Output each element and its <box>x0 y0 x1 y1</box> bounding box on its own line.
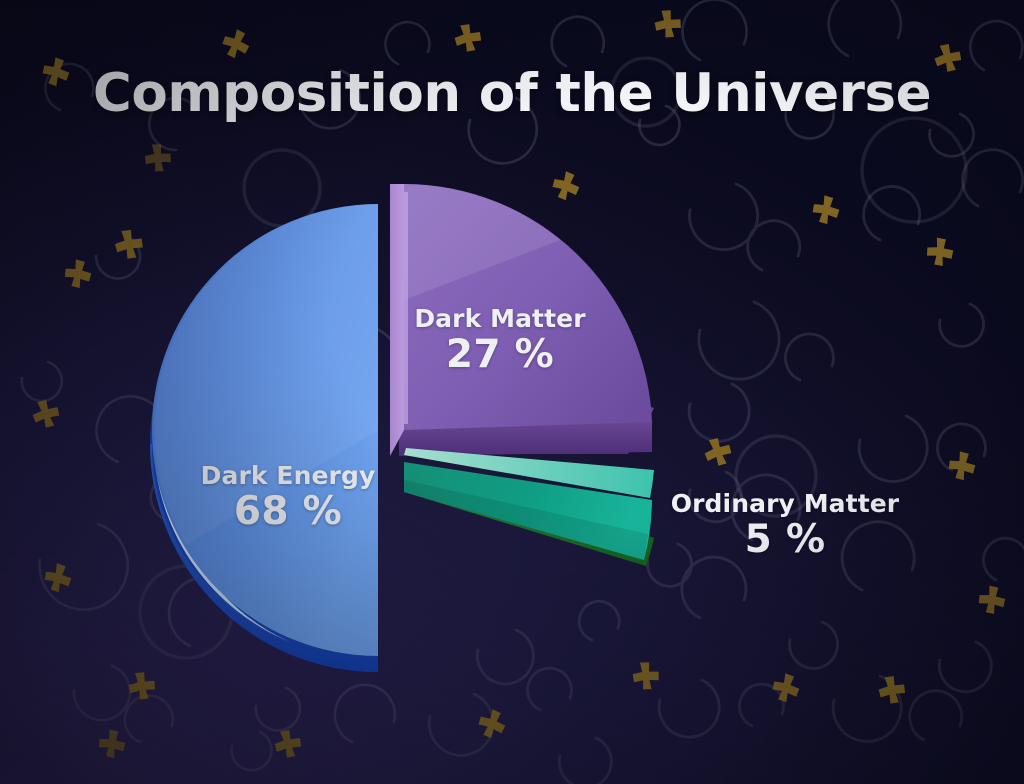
slice-label-dark-matter-value: 27 % <box>366 335 634 376</box>
chart-title: Composition of the Universe <box>0 63 1024 124</box>
slice-label-ordinary-matter-value: 5 % <box>645 520 925 561</box>
slice-label-ordinary-matter-name: Ordinary Matter <box>645 491 925 517</box>
slice-label-dark-matter-name: Dark Matter <box>366 306 634 332</box>
slice-label-dark-energy-value: 68 % <box>152 492 424 533</box>
slice-label-dark-energy-name: Dark Energy <box>152 463 424 489</box>
pie-slice-dark-energy[interactable] <box>150 204 378 672</box>
universe-composition-infographic: Composition of the Universe Dark Matter … <box>0 0 1024 784</box>
slice-label-dark-energy: Dark Energy 68 % <box>152 463 424 533</box>
pie-slice-ordinary-matter[interactable] <box>404 448 654 566</box>
slice-label-dark-matter: Dark Matter 27 % <box>366 306 634 376</box>
slice-label-ordinary-matter: Ordinary Matter 5 % <box>645 491 925 561</box>
